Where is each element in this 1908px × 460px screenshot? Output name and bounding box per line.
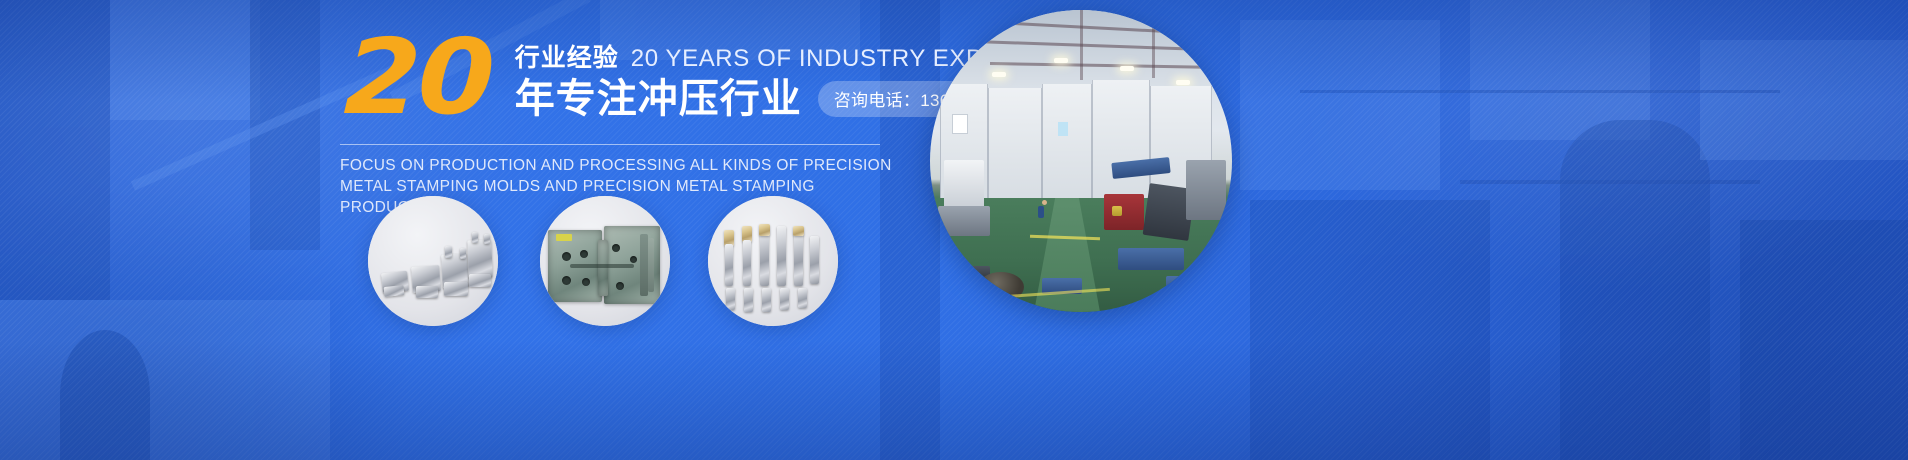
- mold-hole: [630, 256, 637, 263]
- terminal-pin-body: [743, 240, 751, 286]
- mold-rail: [640, 234, 648, 296]
- factory-pallet: [1118, 248, 1184, 270]
- factory-wall-panel: [988, 88, 1042, 200]
- factory-machine: [1186, 160, 1226, 220]
- mold-hole: [562, 252, 571, 261]
- ceiling-lamp: [1176, 80, 1190, 85]
- factory-machine: [938, 206, 990, 236]
- terminal-pin-body: [810, 236, 819, 284]
- ceiling-lamp: [1054, 58, 1068, 63]
- connector-part: [444, 282, 468, 296]
- ceiling-lamp: [1120, 66, 1134, 71]
- terminal-pin-body: [762, 288, 771, 312]
- factory-wall-panel: [1042, 84, 1092, 200]
- connector-pin: [484, 234, 490, 244]
- mold-hole: [616, 282, 624, 290]
- mold-seam: [570, 264, 634, 268]
- terminal-pin-body: [726, 288, 735, 310]
- connector-pin: [460, 248, 466, 259]
- mold-bridge: [598, 240, 608, 296]
- connector-part: [469, 274, 491, 287]
- connector-part: [384, 285, 405, 297]
- mold-hole: [582, 278, 590, 286]
- terminal-pin-body: [744, 288, 753, 312]
- factory-wall-panel: [1092, 80, 1150, 200]
- terminal-pin-head: [793, 226, 804, 236]
- product-circle-stamping-mold[interactable]: [540, 196, 670, 326]
- connector-pin: [472, 232, 478, 243]
- mold-hole: [612, 244, 620, 252]
- terminal-pin-body: [725, 244, 733, 286]
- factory-machine: [1104, 194, 1144, 230]
- steel-coil: [932, 282, 972, 308]
- ceiling-beam: [1152, 14, 1155, 78]
- terminal-pin-body: [794, 230, 803, 286]
- product-circle-connectors[interactable]: [368, 196, 498, 326]
- mold-hole: [580, 250, 588, 258]
- years-number: 20: [343, 32, 493, 124]
- connector-part: [467, 240, 492, 279]
- terminal-pin-body: [760, 228, 769, 286]
- factory-worker: [1038, 206, 1044, 218]
- headline-main-row: 20 行业经验 20 YEARS OF INDUSTRY EXPERIENCE …: [338, 34, 898, 126]
- terminal-pin-body: [798, 288, 807, 308]
- ceiling-beam: [1080, 10, 1083, 80]
- terminal-pin-body: [777, 226, 786, 286]
- promotional-banner: 20 行业经验 20 YEARS OF INDUSTRY EXPERIENCE …: [0, 0, 1908, 460]
- mold-hole: [562, 276, 571, 285]
- product-circle-terminal-pins[interactable]: [708, 196, 838, 326]
- ceiling-lamp: [992, 72, 1006, 77]
- machine-control-panel: [1112, 206, 1122, 216]
- headline-divider: [340, 144, 880, 145]
- focus-industry-label-cn: 年专注冲压行业: [515, 78, 802, 120]
- connector-part: [416, 286, 438, 298]
- wall-notice: [952, 114, 968, 134]
- headline-block: 20 行业经验 20 YEARS OF INDUSTRY EXPERIENCE …: [338, 34, 898, 218]
- terminal-pin-body: [780, 288, 789, 310]
- terminal-pin-head: [759, 224, 770, 236]
- connector-pin: [445, 246, 452, 258]
- factory-worker-head: [1042, 200, 1047, 205]
- experience-label-cn: 行业经验: [515, 38, 619, 74]
- mold-rail: [648, 238, 654, 292]
- factory-scene: [930, 10, 1232, 312]
- factory-machine: [944, 160, 984, 208]
- factory-pallet: [1166, 276, 1230, 298]
- factory-workshop-photo[interactable]: [930, 10, 1232, 312]
- mold-marker: [556, 234, 572, 241]
- wall-notice: [1058, 122, 1068, 136]
